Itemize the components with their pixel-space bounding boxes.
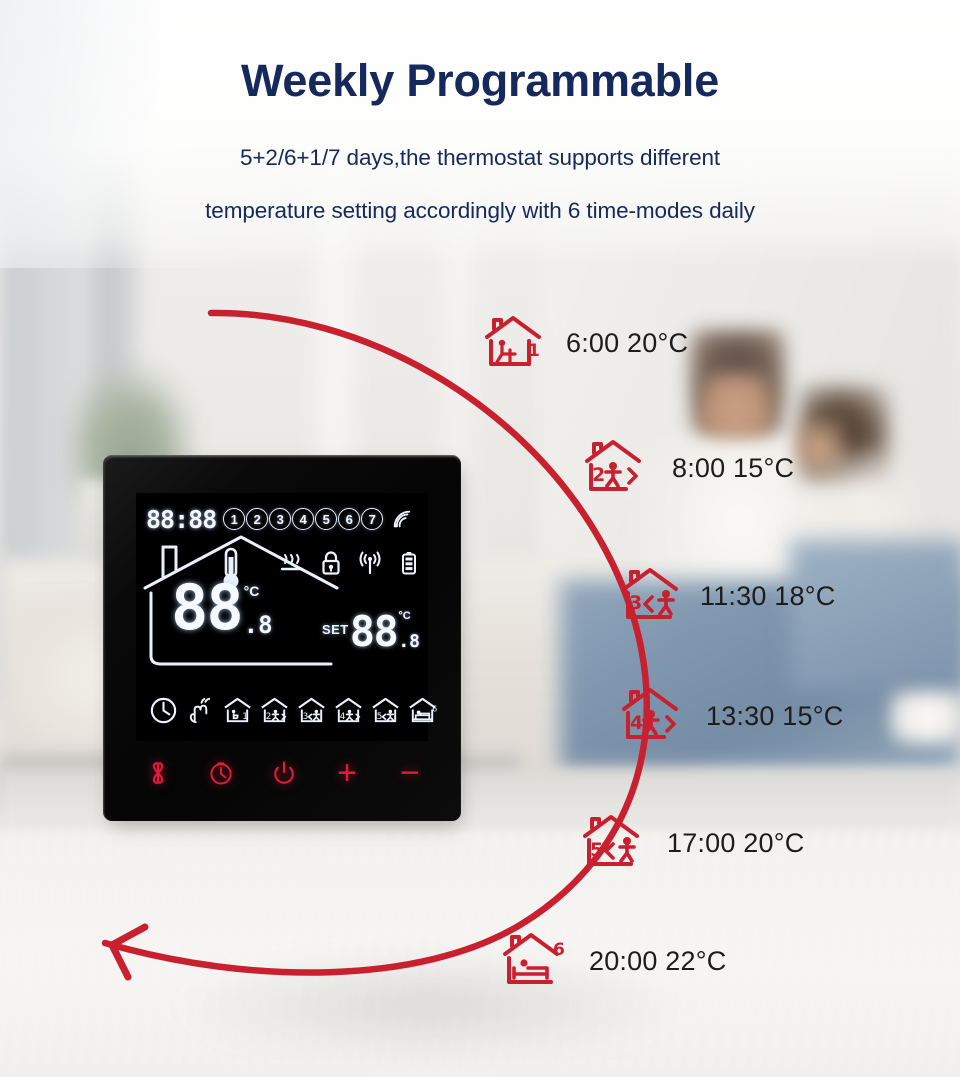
svg-text:3: 3 <box>629 592 642 614</box>
house-returning-icon: 3 <box>622 565 684 627</box>
svg-text:1: 1 <box>528 341 540 361</box>
house-returning-icon: 5 <box>583 812 645 874</box>
schedule-item-5: 5 17:00 20°C <box>583 812 804 874</box>
svg-text:4: 4 <box>630 712 643 734</box>
schedule-item-2: 2 8:00 15°C <box>582 437 794 499</box>
schedule-text-6: 20:00 22°C <box>589 946 726 977</box>
svg-text:2: 2 <box>592 464 605 486</box>
schedule-item-1: 1 6:00 20°C <box>482 312 688 374</box>
schedule-item-4: 4 13:30 15°C <box>622 685 843 747</box>
house-leaving-icon: 2 <box>582 437 644 499</box>
schedule-text-4: 13:30 15°C <box>706 701 843 732</box>
house-leaving-icon: 4 <box>622 685 684 747</box>
schedule-text-2: 8:00 15°C <box>672 453 794 484</box>
schedule-list: 1 6:00 20°C 2 8:00 15°C <box>0 0 960 1077</box>
schedule-text-5: 17:00 20°C <box>667 828 804 859</box>
schedule-item-3: 3 11:30 18°C <box>622 565 835 627</box>
house-sitting-icon: 1 <box>482 312 544 374</box>
svg-text:5: 5 <box>590 839 603 861</box>
house-sleeping-icon: 6 <box>503 930 565 992</box>
schedule-text-3: 11:30 18°C <box>700 581 835 612</box>
schedule-text-1: 6:00 20°C <box>566 328 688 359</box>
schedule-item-6: 6 20:00 22°C <box>503 930 726 992</box>
svg-text:6: 6 <box>553 940 565 960</box>
